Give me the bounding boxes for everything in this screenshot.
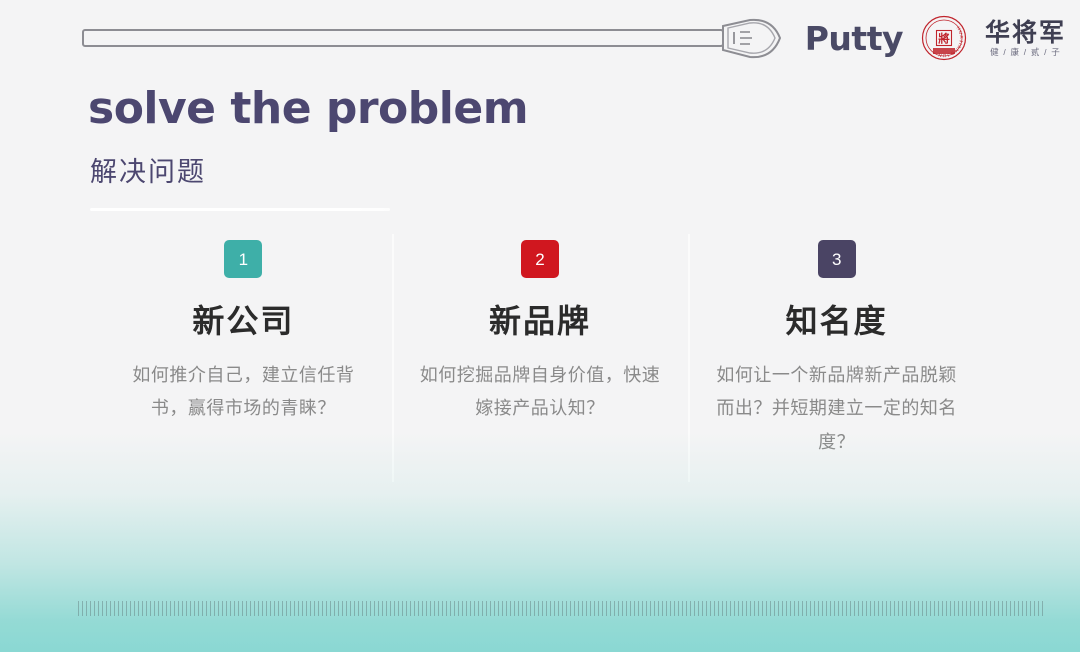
footer-ruler-band xyxy=(78,601,1044,616)
column-body-3: 如何让一个新品牌新产品脱颖而出？并短期建立一定的知名度？ xyxy=(711,359,963,459)
putty-wordmark: Putty xyxy=(805,22,903,55)
title-underline xyxy=(90,208,390,211)
column-badge-2: 2 xyxy=(521,240,559,278)
column-badge-number: 2 xyxy=(535,251,544,268)
cn-brand-tagline: 健 / 康 / 贰 / 子 xyxy=(990,48,1061,57)
slide-canvas: Putty HUAJIANGJUN 將 华将军 健 / 康 / 贰 / 子 so… xyxy=(0,0,1080,652)
svg-text:將: 將 xyxy=(938,31,950,45)
brand-lockup: Putty HUAJIANGJUN 將 华将军 健 / 康 / 贰 / 子 xyxy=(805,12,1066,64)
column-title-3: 知名度 xyxy=(786,304,888,339)
column-title-1: 新公司 xyxy=(192,304,294,339)
column-badge-number: 1 xyxy=(239,251,248,268)
column-badge-1: 1 xyxy=(224,240,262,278)
problem-column-3: 3 知名度 如何让一个新品牌新产品脱颖而出？并短期建立一定的知名度？ xyxy=(688,240,985,490)
column-badge-3: 3 xyxy=(818,240,856,278)
cn-brand-block: 华将军 健 / 康 / 贰 / 子 xyxy=(985,20,1066,57)
problem-columns: 1 新公司 如何推介自己，建立信任背书，赢得市场的青睐？ 2 新品牌 如何挖掘品… xyxy=(95,240,985,490)
problem-column-1: 1 新公司 如何推介自己，建立信任背书，赢得市场的青睐？ xyxy=(95,240,392,490)
column-badge-number: 3 xyxy=(832,251,841,268)
problem-column-2: 2 新品牌 如何挖掘品牌自身价值，快速嫁接产品认知？ xyxy=(392,240,689,490)
huajiangjun-seal-icon: HUAJIANGJUN 將 xyxy=(921,15,967,61)
column-title-2: 新品牌 xyxy=(489,304,591,339)
page-title-en: solve the problem xyxy=(88,86,528,132)
cn-brand-name: 华将军 xyxy=(985,20,1066,45)
column-body-1: 如何推介自己，建立信任背书，赢得市场的青睐？ xyxy=(117,359,369,426)
putty-knife-icon xyxy=(82,16,782,66)
putty-knife-decoration xyxy=(82,16,782,66)
page-title-cn: 解决问题 xyxy=(90,158,206,188)
column-body-2: 如何挖掘品牌自身价值，快速嫁接产品认知？ xyxy=(414,359,666,426)
